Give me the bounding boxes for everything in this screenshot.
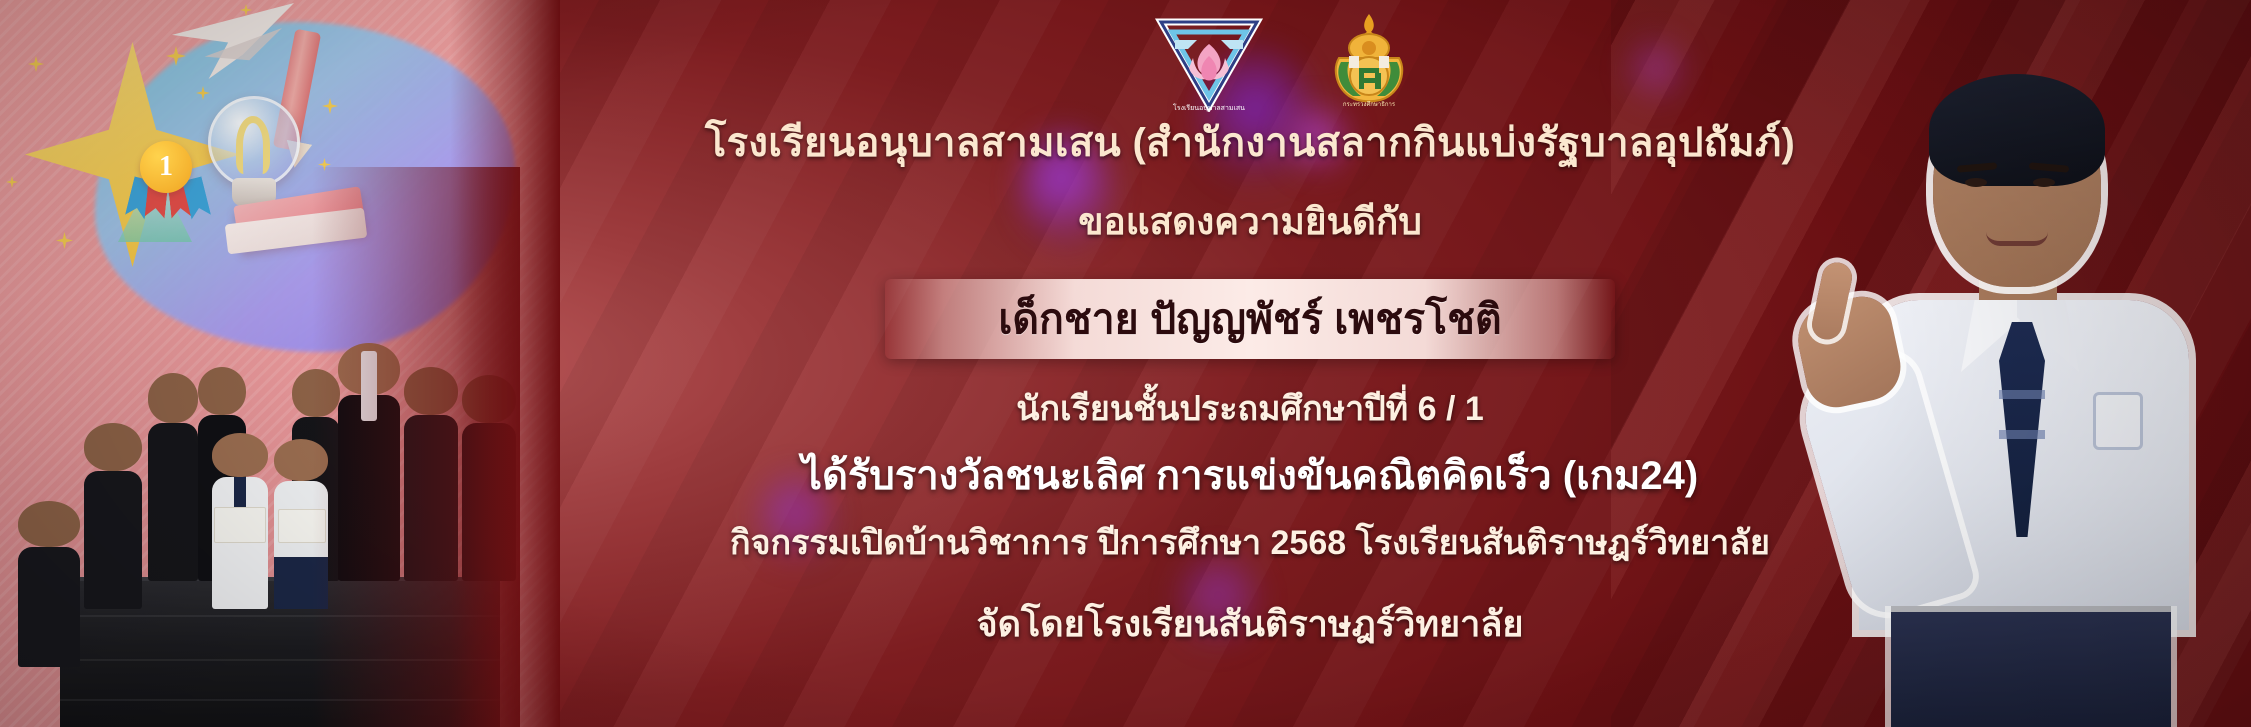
student-portrait-cutout xyxy=(1781,0,2251,727)
photo-edge-fade xyxy=(0,167,520,727)
first-place-medal-icon: 1 xyxy=(140,141,192,193)
school-name: โรงเรียนอนุบาลสามเสน (สำนักงานสลากกินแบ่… xyxy=(705,110,1795,174)
medal-number: 1 xyxy=(140,141,192,193)
student-eye xyxy=(2033,178,2055,187)
banner-text-block: โรงเรียนอนุบาลสามเสน (สำนักงานสลากกินแบ่… xyxy=(560,0,1940,727)
student-smile xyxy=(1986,232,2048,246)
necktie-stripe xyxy=(1999,390,2045,399)
congratulations-text: ขอแสดงความยินดีกับ xyxy=(1078,192,1422,251)
necktie-stripe xyxy=(1999,430,2045,439)
award-title: ได้รับรางวัลชนะเลิศ การแข่งขันคณิตคิดเร็… xyxy=(802,443,1698,507)
student-name: เด็กชาย ปัญญพัชร์ เพชรโชติ xyxy=(998,287,1501,352)
organizer-name: จัดโดยโรงเรียนสันติราษฎร์วิทยาลัย xyxy=(976,595,1523,652)
lightbulb-filament-icon xyxy=(236,116,270,174)
event-name: กิจกรรมเปิดบ้านวิชาการ ปีการศึกษา 2568 โ… xyxy=(730,515,1770,569)
congratulations-banner: 1 xyxy=(0,0,2251,727)
student-eye xyxy=(1965,178,1987,187)
student-name-plaque: เด็กชาย ปัญญพัชร์ เพชรโชติ xyxy=(885,279,1615,359)
student-grade: นักเรียนชั้นประถมศึกษาปีที่ 6 / 1 xyxy=(1016,381,1484,435)
school-uniform-badge xyxy=(2093,392,2143,450)
panel-right-fade xyxy=(450,0,560,727)
award-ceremony-group-photo xyxy=(0,167,520,727)
decorative-illustration-panel: 1 xyxy=(0,0,560,727)
student-trousers xyxy=(1891,612,2171,727)
student-hair xyxy=(1929,74,2105,186)
